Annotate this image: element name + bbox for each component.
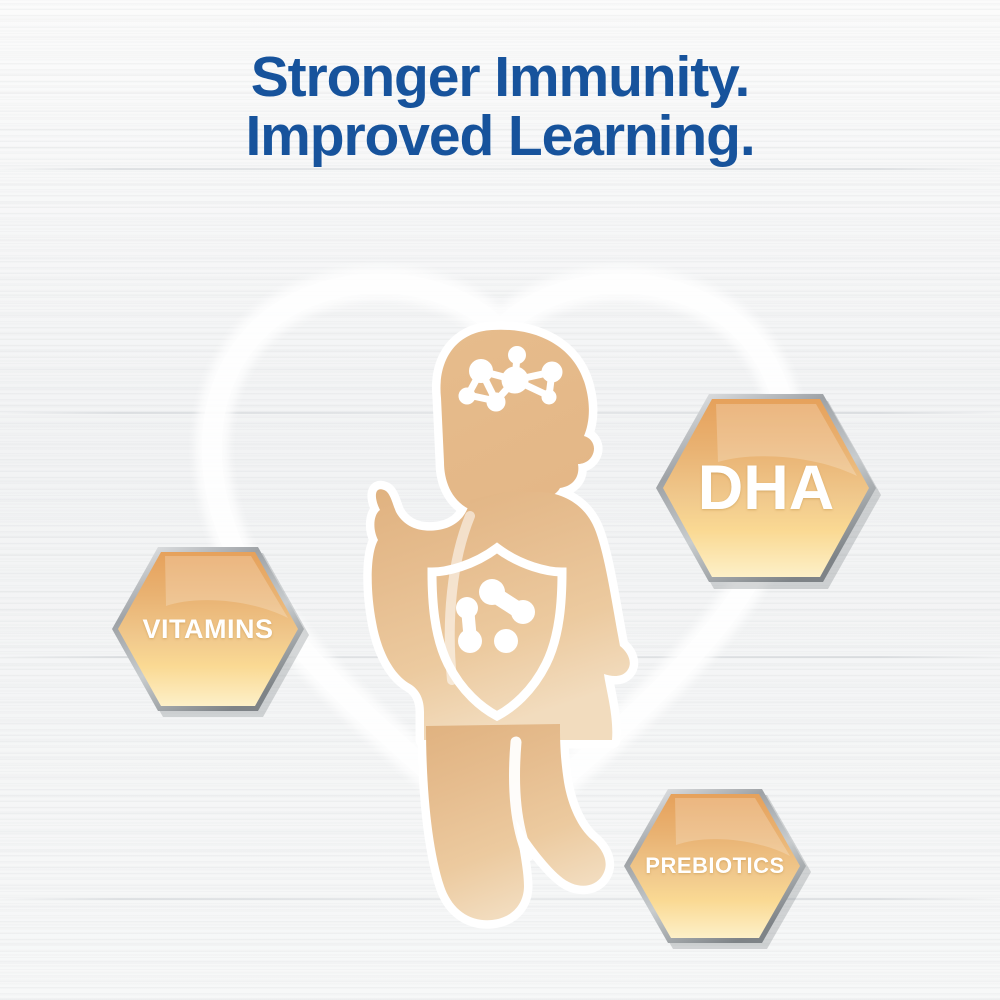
figure-torso	[372, 489, 630, 740]
headline-line-1: Stronger Immunity.	[251, 45, 750, 109]
headline-line-2: Improved Learning.	[0, 107, 1000, 166]
infographic-canvas: DHA	[0, 0, 1000, 1000]
badge-vitamins[interactable]: VITAMINS	[108, 538, 308, 720]
headline: Stronger Immunity. Improved Learning.	[0, 48, 1000, 165]
toddler-silhouette	[372, 330, 630, 921]
badge-prebiotics[interactable]: PREBIOTICS	[620, 780, 810, 952]
badge-dha[interactable]: DHA	[652, 384, 880, 592]
